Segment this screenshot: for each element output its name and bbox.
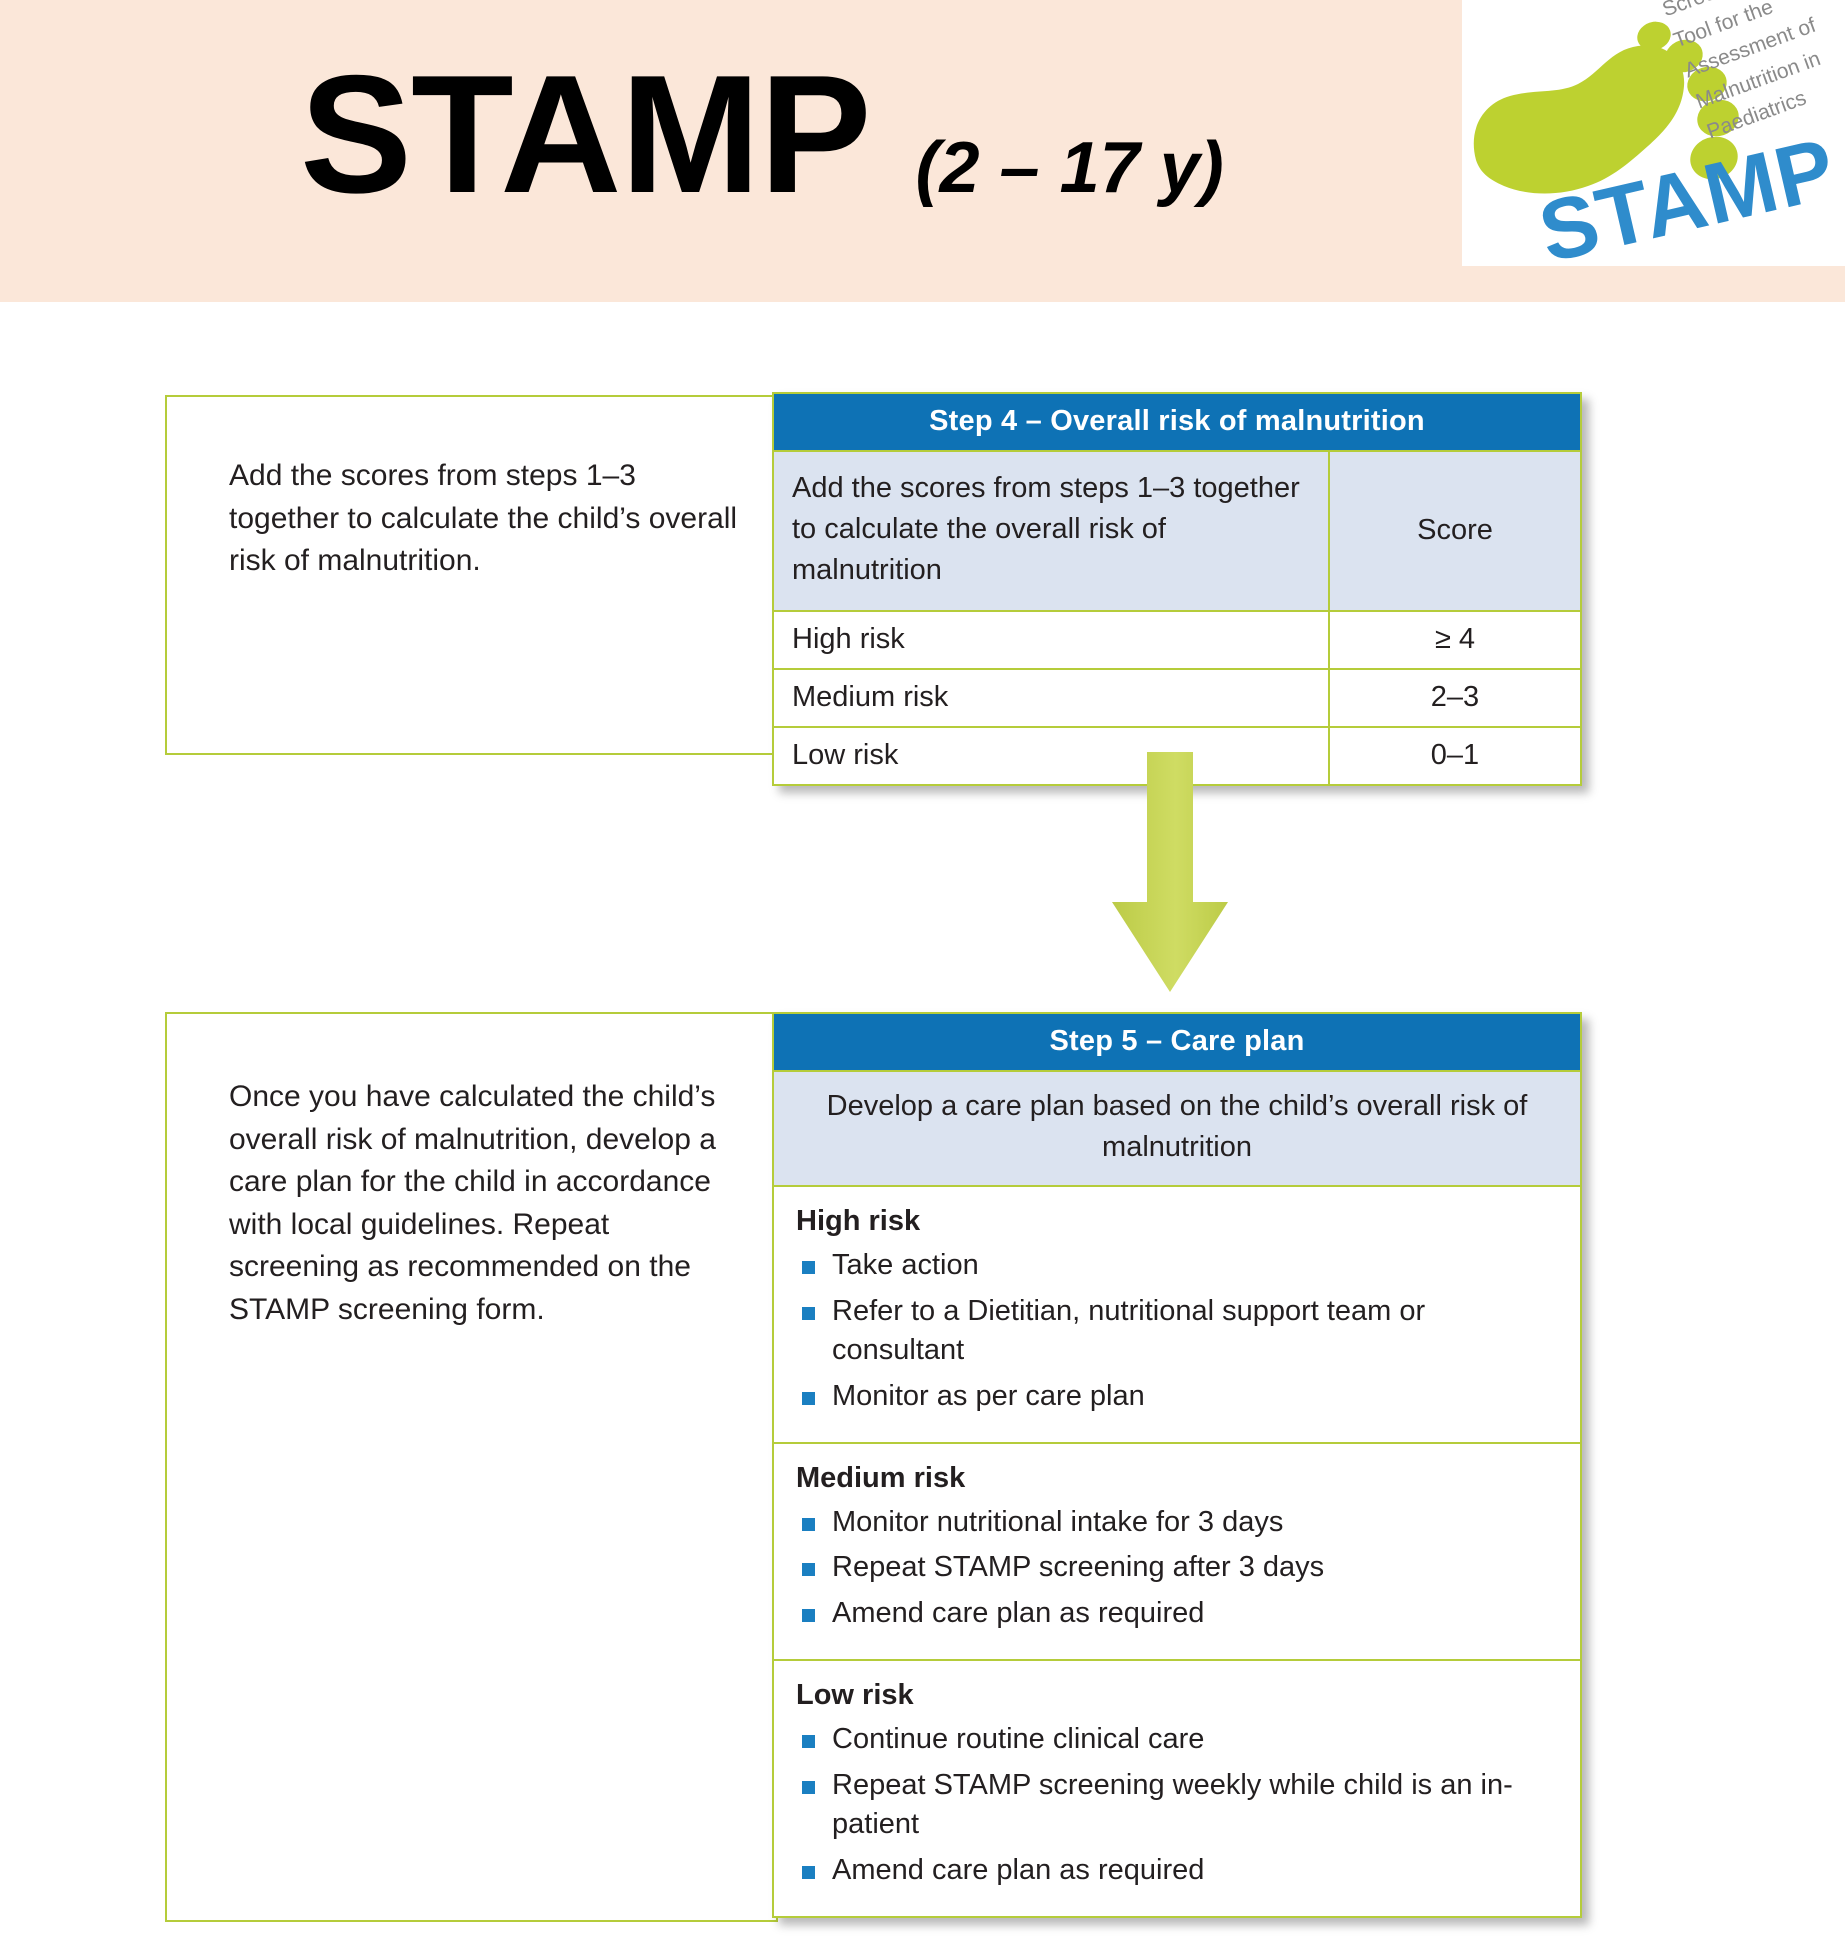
care-group-title: Low risk: [796, 1679, 1558, 1712]
list-item: Amend care plan as required: [796, 1851, 1558, 1890]
square-bullet-icon: [802, 1866, 815, 1879]
step4-risk-score: ≥ 4: [1328, 612, 1580, 668]
list-item: Monitor as per care plan: [796, 1377, 1558, 1416]
square-bullet-icon: [802, 1261, 815, 1274]
page-subtitle-age-range: (2 – 17 y): [916, 127, 1224, 209]
list-item: Continue routine clinical care: [796, 1720, 1558, 1759]
list-item-text: Continue routine clinical care: [832, 1723, 1204, 1755]
step5-table: Step 5 – Care plan Develop a care plan b…: [772, 1012, 1582, 1918]
care-group-medium-risk: Medium risk Monitor nutritional intake f…: [774, 1442, 1580, 1659]
step5-intro: Develop a care plan based on the child’s…: [774, 1070, 1580, 1185]
list-item-text: Repeat STAMP screening after 3 days: [832, 1551, 1324, 1583]
step4-risk-score: 2–3: [1328, 670, 1580, 726]
square-bullet-icon: [802, 1518, 815, 1531]
down-arrow-icon: [1100, 752, 1240, 1002]
page-title-group: STAMP (2 – 17 y): [300, 50, 1224, 218]
step4-subheader-description: Add the scores from steps 1–3 together t…: [774, 452, 1328, 610]
stamp-logo: STAMP Screening Tool for the Assessment …: [1462, 0, 1845, 266]
list-item: Take action: [796, 1246, 1558, 1285]
step5-side-note: Once you have calculated the child’s ove…: [229, 1076, 740, 1332]
page-title: STAMP: [300, 50, 871, 218]
list-item-text: Amend care plan as required: [832, 1597, 1204, 1629]
list-item-text: Refer to a Dietitian, nutritional suppor…: [832, 1295, 1425, 1366]
list-item-text: Repeat STAMP screening weekly while chil…: [832, 1769, 1513, 1840]
care-group-low-risk: Low risk Continue routine clinical care …: [774, 1659, 1580, 1916]
list-item: Amend care plan as required: [796, 1594, 1558, 1633]
care-item-list: Monitor nutritional intake for 3 days Re…: [796, 1503, 1558, 1633]
step4-risk-label: Low risk: [774, 728, 1328, 784]
square-bullet-icon: [802, 1781, 815, 1794]
step4-subheader-row: Add the scores from steps 1–3 together t…: [774, 450, 1580, 610]
list-item-text: Amend care plan as required: [832, 1854, 1204, 1886]
table-row: Medium risk 2–3: [774, 668, 1580, 726]
square-bullet-icon: [802, 1609, 815, 1622]
care-group-title: Medium risk: [796, 1462, 1558, 1495]
step4-side-note-panel: Add the scores from steps 1–3 together t…: [165, 395, 778, 755]
step4-subheader-score: Score: [1328, 452, 1580, 610]
list-item: Refer to a Dietitian, nutritional suppor…: [796, 1292, 1558, 1371]
care-item-list: Continue routine clinical care Repeat ST…: [796, 1720, 1558, 1890]
list-item-text: Monitor as per care plan: [832, 1380, 1145, 1412]
square-bullet-icon: [802, 1307, 815, 1320]
step4-header: Step 4 – Overall risk of malnutrition: [774, 394, 1580, 450]
list-item: Monitor nutritional intake for 3 days: [796, 1503, 1558, 1542]
list-item-text: Take action: [832, 1249, 979, 1281]
list-item: Repeat STAMP screening after 3 days: [796, 1548, 1558, 1587]
step4-risk-score: 0–1: [1328, 728, 1580, 784]
step4-table: Step 4 – Overall risk of malnutrition Ad…: [772, 392, 1582, 786]
list-item-text: Monitor nutritional intake for 3 days: [832, 1506, 1283, 1538]
step5-side-note-panel: Once you have calculated the child’s ove…: [165, 1012, 778, 1922]
table-row: High risk ≥ 4: [774, 610, 1580, 668]
square-bullet-icon: [802, 1735, 815, 1748]
step4-risk-label: Medium risk: [774, 670, 1328, 726]
step4-risk-label: High risk: [774, 612, 1328, 668]
step4-side-note: Add the scores from steps 1–3 together t…: [229, 455, 746, 583]
care-item-list: Take action Refer to a Dietitian, nutrit…: [796, 1246, 1558, 1416]
care-group-title: High risk: [796, 1205, 1558, 1238]
step5-header: Step 5 – Care plan: [774, 1014, 1580, 1070]
care-group-high-risk: High risk Take action Refer to a Dietiti…: [774, 1185, 1580, 1442]
square-bullet-icon: [802, 1563, 815, 1576]
square-bullet-icon: [802, 1392, 815, 1405]
list-item: Repeat STAMP screening weekly while chil…: [796, 1766, 1558, 1845]
